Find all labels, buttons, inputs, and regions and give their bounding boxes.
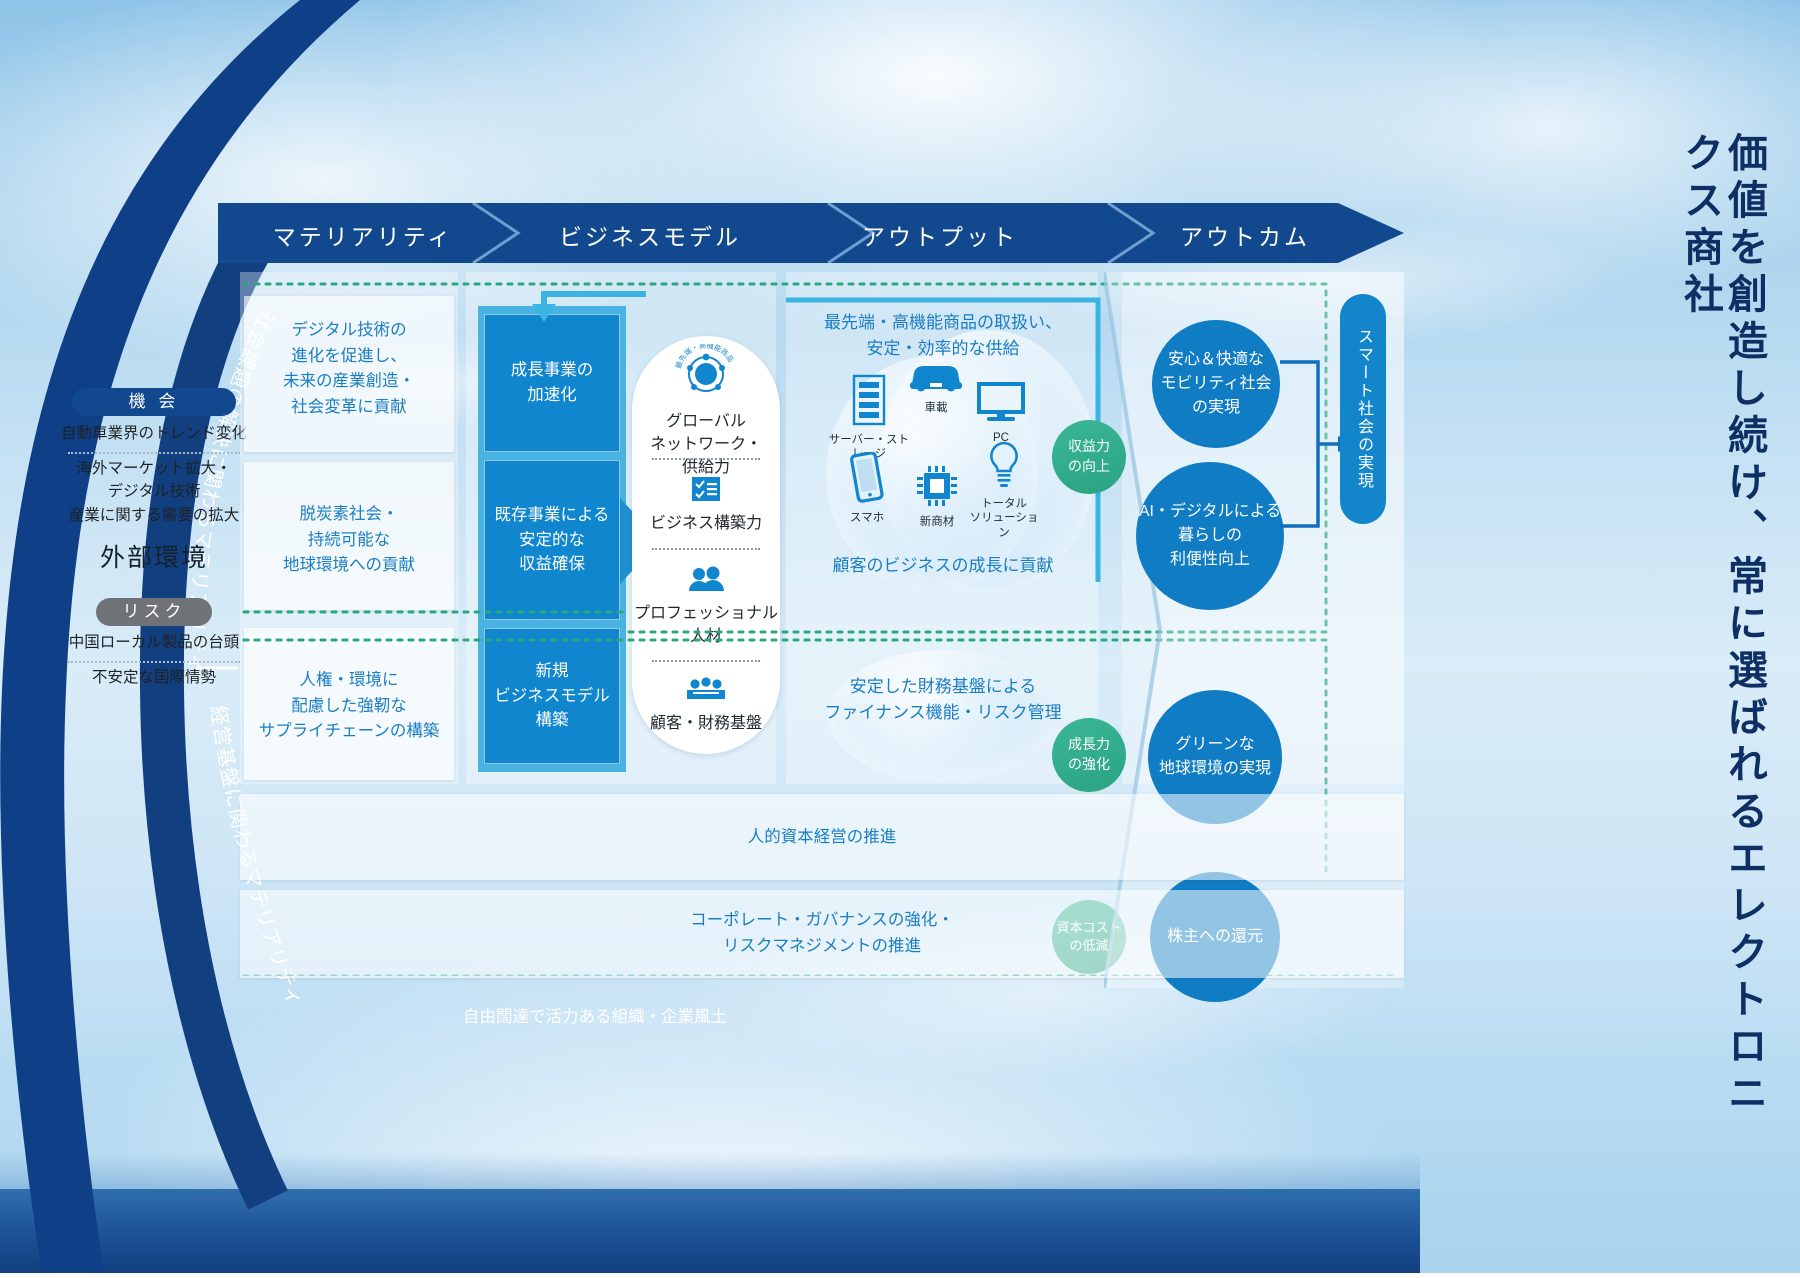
outcome-circle-mobility: 安心＆快適な モビリティ社会 の実現 — [1152, 320, 1280, 448]
smart-society-label: スマート社会の実現 — [1351, 328, 1375, 490]
smart-society-bar: スマート社会の実現 — [1340, 294, 1386, 524]
opportunity-badge: 機 会 — [72, 388, 236, 416]
page-title: 価値を創造し続け、常に選ばれるエレクトロニクス商社 — [1678, 132, 1766, 1162]
opportunity-item-2: 海外マーケット拡大・ デジタル技術 産業に関する需要の拡大 — [50, 457, 258, 527]
risk-item-1: 中国ローカル製品の台頭 — [50, 631, 258, 654]
external-environment-title: 外部環境 — [56, 538, 252, 574]
opportunity-item-1: 自動車業界のトレンド変化 — [56, 422, 252, 445]
risk-badge: リスク — [96, 598, 212, 626]
risk-item-2: 不安定な国際情勢 — [50, 666, 258, 689]
human-capital-text: 人的資本経営の推進 — [240, 825, 1404, 851]
stage-label-business-model: ビジネスモデル — [500, 218, 800, 252]
legend-divider-2 — [68, 661, 240, 663]
governance-text: コーポレート・ガバナンスの強化・ リスクマネジメントの推進 — [240, 908, 1404, 959]
stage-label-materiality: マテリアリティ — [218, 218, 508, 252]
legend-divider-1 — [68, 452, 240, 454]
outcome-circle-ai-digital: AI・デジタルによる 暮らしの 利便性向上 — [1136, 462, 1284, 610]
stage-label-output: アウトプット — [790, 218, 1090, 252]
footer-band-text: 自由闊達で活力ある組織・企業風土 — [0, 1003, 1190, 1027]
stage-label-outcome: アウトカム — [1100, 218, 1390, 252]
